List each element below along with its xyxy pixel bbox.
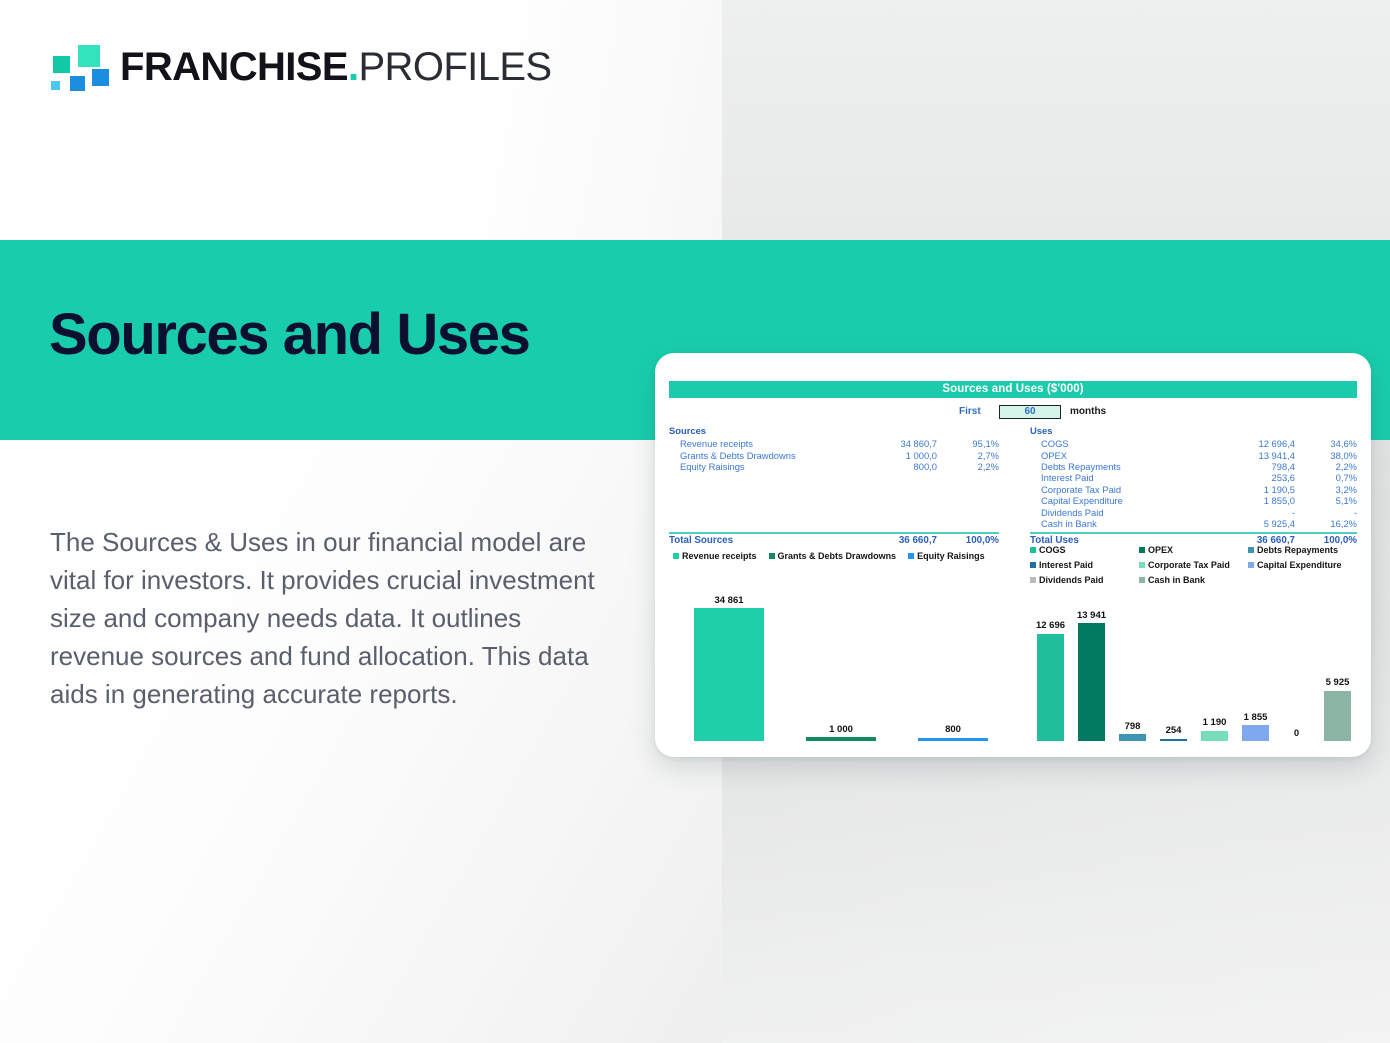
table-row: Equity Raisings 800,0 2,2% — [669, 461, 999, 472]
bar-group: 798 — [1112, 591, 1153, 741]
logo-square-1 — [51, 54, 72, 75]
legend-label: Cash in Bank — [1148, 575, 1205, 585]
legend-item[interactable]: Revenue receipts — [673, 551, 757, 561]
bar-value-label: 1 000 — [829, 725, 853, 735]
row-value: 798,4 — [1209, 461, 1295, 472]
legend-label: Capital Expenditure — [1257, 560, 1342, 570]
table-row: Cash in Bank 5 925,4 16,2% — [1030, 518, 1357, 529]
legend-swatch-icon — [673, 553, 679, 559]
sources-header: Sources — [669, 425, 999, 438]
bar[interactable] — [1037, 634, 1064, 741]
row-value: 800,0 — [851, 461, 937, 472]
logo-square-2 — [76, 43, 102, 69]
bar-group: 34 861 — [673, 591, 785, 741]
legend-item[interactable]: Corporate Tax Paid — [1139, 560, 1248, 570]
bar-group: 12 696 — [1030, 591, 1071, 741]
bar-group: 254 — [1153, 591, 1194, 741]
legend-item[interactable]: Grants & Debts Drawdowns — [769, 551, 897, 561]
legend-swatch-icon — [1248, 562, 1254, 568]
table-row: Revenue receipts 34 860,7 95,1% — [669, 438, 999, 449]
row-label: OPEX — [1030, 450, 1209, 461]
legend-item[interactable]: Capital Expenditure — [1248, 560, 1357, 570]
sheet-title: Sources and Uses ($'000) — [669, 381, 1357, 398]
logo-square-5 — [90, 67, 111, 88]
bar-value-label: 5 925 — [1326, 678, 1350, 688]
period-months-input[interactable]: 60 — [999, 405, 1061, 419]
table-row-spacer — [669, 506, 999, 517]
row-value: 1 000,0 — [851, 450, 937, 461]
row-percent: 3,2% — [1295, 484, 1357, 495]
legend-label: Dividends Paid — [1039, 575, 1104, 585]
brand-name-light: PROFILES — [358, 45, 551, 89]
legend-swatch-icon — [769, 553, 775, 559]
bar-group: 1 190 — [1194, 591, 1235, 741]
bar-value-label: 0 — [1294, 729, 1299, 739]
table-row-spacer — [669, 518, 999, 529]
brand-logo[interactable]: FRANCHISE.PROFILES — [48, 41, 552, 93]
hero-paragraph: The Sources & Uses in our financial mode… — [50, 523, 622, 713]
legend-swatch-icon — [1030, 562, 1036, 568]
sources-and-uses-card[interactable]: Sources and Uses ($'000) First 60 months… — [655, 353, 1371, 757]
sources-bar-chart: 34 8611 000800 — [673, 591, 1009, 741]
table-row-spacer — [669, 484, 999, 495]
row-label: Grants & Debts Drawdowns — [669, 450, 851, 461]
row-value: 5 925,4 — [1209, 518, 1295, 529]
uses-plot-area: 12 69613 9417982541 1901 85505 925 — [1030, 591, 1358, 741]
legend-swatch-icon — [1030, 577, 1036, 583]
table-row: Capital Expenditure 1 855,0 5,1% — [1030, 495, 1357, 506]
period-line: First 60 months — [669, 405, 1357, 421]
bar[interactable] — [1324, 691, 1351, 741]
bar-group: 800 — [897, 591, 1009, 741]
total-value: 36 660,7 — [851, 535, 937, 546]
table-row: Corporate Tax Paid 1 190,5 3,2% — [1030, 484, 1357, 495]
row-percent: - — [1295, 507, 1357, 518]
legend-label: Interest Paid — [1039, 560, 1093, 570]
sources-table: Sources Revenue receipts 34 860,7 95,1% … — [669, 425, 999, 548]
brand-wordmark: FRANCHISE.PROFILES — [120, 47, 552, 87]
table-row-spacer — [669, 495, 999, 506]
legend-item[interactable]: Cash in Bank — [1139, 575, 1248, 585]
legend-item[interactable]: OPEX — [1139, 545, 1248, 555]
bar[interactable] — [1160, 739, 1187, 741]
brand-name-dot: . — [348, 45, 359, 89]
bar[interactable] — [1078, 623, 1105, 741]
row-label: Corporate Tax Paid — [1030, 484, 1209, 495]
row-label: Capital Expenditure — [1030, 495, 1209, 506]
table-row: Interest Paid 253,6 0,7% — [1030, 472, 1357, 483]
row-value: 1 190,5 — [1209, 484, 1295, 495]
row-percent: 95,1% — [937, 438, 999, 449]
row-label: Revenue receipts — [669, 438, 851, 449]
bar[interactable] — [1201, 731, 1228, 741]
period-suffix-label: months — [1070, 406, 1106, 417]
row-percent: 5,1% — [1295, 495, 1357, 506]
sources-chart-legend: Revenue receiptsGrants & Debts Drawdowns… — [673, 551, 1009, 561]
page-title: Sources and Uses — [49, 305, 529, 366]
row-value: 34 860,7 — [851, 438, 937, 449]
bar-value-label: 798 — [1125, 722, 1141, 732]
row-value: - — [1209, 507, 1295, 518]
row-label: Dividends Paid — [1030, 507, 1209, 518]
total-label: Total Sources — [669, 535, 851, 546]
period-selector-row: First 60 months — [669, 405, 1357, 421]
row-value: 13 941,4 — [1209, 450, 1295, 461]
row-percent: 38,0% — [1295, 450, 1357, 461]
table-row: OPEX 13 941,4 38,0% — [1030, 449, 1357, 460]
bar[interactable] — [1242, 725, 1269, 741]
legend-swatch-icon — [1248, 547, 1254, 553]
legend-label: COGS — [1039, 545, 1066, 555]
total-percent: 100,0% — [937, 535, 999, 546]
bar[interactable] — [806, 737, 875, 741]
sheet-inner: Sources and Uses ($'000) First 60 months… — [655, 353, 1371, 757]
row-value: 1 855,0 — [1209, 495, 1295, 506]
legend-label: Corporate Tax Paid — [1148, 560, 1230, 570]
legend-item[interactable]: Dividends Paid — [1030, 575, 1139, 585]
row-percent: 2,7% — [937, 450, 999, 461]
legend-swatch-icon — [908, 553, 914, 559]
bar-value-label: 800 — [945, 725, 961, 735]
bar[interactable] — [694, 608, 763, 741]
bar-group: 0 — [1276, 591, 1317, 741]
sources-total-row: Total Sources 36 660,7 100,0% — [669, 534, 999, 548]
uses-chart-legend: COGSOPEXDebts RepaymentsInterest PaidCor… — [1030, 545, 1360, 590]
legend-swatch-icon — [1139, 562, 1145, 568]
bar-value-label: 1 855 — [1244, 713, 1268, 723]
squares-mosaic-logo-icon — [48, 41, 104, 93]
table-row: Debts Repayments 798,4 2,2% — [1030, 461, 1357, 472]
row-percent: 2,2% — [937, 461, 999, 472]
legend-label: Debts Repayments — [1257, 545, 1338, 555]
table-row: COGS 12 696,4 34,6% — [1030, 438, 1357, 449]
bar[interactable] — [1119, 734, 1146, 741]
table-row-spacer — [669, 472, 999, 483]
brand-name-bold: FRANCHISE — [120, 45, 348, 89]
row-value: 253,6 — [1209, 472, 1295, 483]
legend-swatch-icon — [1139, 577, 1145, 583]
row-percent: 2,2% — [1295, 461, 1357, 472]
legend-label: Equity Raisings — [917, 551, 985, 561]
bar-value-label: 1 190 — [1203, 718, 1227, 728]
row-percent: 0,7% — [1295, 472, 1357, 483]
legend-label: OPEX — [1148, 545, 1173, 555]
row-label: COGS — [1030, 438, 1209, 449]
legend-item[interactable]: Debts Repayments — [1248, 545, 1357, 555]
uses-table: Uses COGS 12 696,4 34,6% OPEX 13 941,4 3… — [1030, 425, 1357, 548]
period-prefix-label: First — [959, 406, 981, 417]
sources-plot-area: 34 8611 000800 — [673, 591, 1009, 741]
row-label: Equity Raisings — [669, 461, 851, 472]
table-row: Grants & Debts Drawdowns 1 000,0 2,7% — [669, 449, 999, 460]
row-value: 12 696,4 — [1209, 438, 1295, 449]
legend-swatch-icon — [1030, 547, 1036, 553]
legend-label: Grants & Debts Drawdowns — [778, 551, 897, 561]
legend-swatch-icon — [1139, 547, 1145, 553]
bar-group: 1 855 — [1235, 591, 1276, 741]
logo-square-3 — [49, 79, 62, 92]
legend-label: Revenue receipts — [682, 551, 757, 561]
uses-header: Uses — [1030, 425, 1357, 438]
row-label: Interest Paid — [1030, 472, 1209, 483]
row-label: Cash in Bank — [1030, 518, 1209, 529]
bar-group: 1 000 — [785, 591, 897, 741]
bar-group: 5 925 — [1317, 591, 1358, 741]
row-percent: 16,2% — [1295, 518, 1357, 529]
table-row: Dividends Paid - - — [1030, 506, 1357, 517]
row-percent: 34,6% — [1295, 438, 1357, 449]
bar-value-label: 34 861 — [714, 596, 743, 606]
bar-value-label: 254 — [1166, 726, 1182, 736]
legend-item[interactable]: Equity Raisings — [908, 551, 985, 561]
bar-group: 13 941 — [1071, 591, 1112, 741]
bar-value-label: 13 941 — [1077, 611, 1106, 621]
bar[interactable] — [918, 738, 987, 741]
background-top-strip — [722, 0, 1390, 240]
logo-square-4 — [68, 74, 87, 93]
bar-value-label: 12 696 — [1036, 621, 1065, 631]
uses-bar-chart: 12 69613 9417982541 1901 85505 925 — [1030, 591, 1358, 741]
row-label: Debts Repayments — [1030, 461, 1209, 472]
legend-item[interactable]: Interest Paid — [1030, 560, 1139, 570]
legend-item[interactable]: COGS — [1030, 545, 1139, 555]
